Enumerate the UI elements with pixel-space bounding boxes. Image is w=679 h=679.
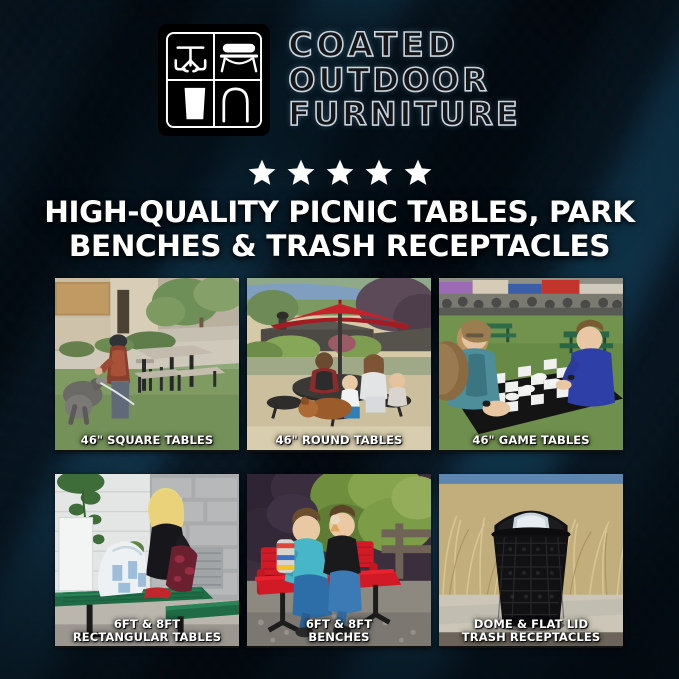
five-star-rating (0, 158, 679, 187)
product-tile-game-tables[interactable]: 46" GAME TABLES (439, 278, 623, 452)
star-icon (403, 158, 433, 187)
park-bench-icon (220, 44, 258, 71)
product-tile-rectangular-tables[interactable]: 6FT & 8FT RECTANGULAR TABLES (55, 474, 239, 648)
brand-logo: COATED OUTDOOR FURNITURE (0, 24, 679, 136)
square-tables-photo (55, 278, 239, 450)
headline-line-1: HIGH-QUALITY PICNIC TABLES, PARK (44, 195, 634, 229)
star-icon (325, 158, 355, 187)
product-caption: 46" GAME TABLES (439, 434, 623, 447)
brand-line-1: COATED (288, 28, 520, 63)
bike-rack-icon (224, 89, 248, 121)
brand-line-2: OUTDOOR (288, 64, 520, 98)
trash-receptacle-icon (185, 88, 206, 119)
page-headline: HIGH-QUALITY PICNIC TABLES, PARK BENCHES… (34, 196, 645, 263)
product-tile-trash-receptacles[interactable]: DOME & FLAT LID TRASH RECEPTACLES (439, 474, 623, 648)
product-caption: 46" ROUND TABLES (247, 434, 431, 447)
picnic-table-icon (176, 48, 205, 72)
four-quadrant-product-logo (158, 24, 270, 136)
round-tables-photo (247, 278, 431, 450)
infographic-root: COATED OUTDOOR FURNITURE HIGH-QUALITY PI… (0, 0, 679, 679)
product-tile-benches[interactable]: 6FT & 8FT BENCHES (247, 474, 431, 648)
game-tables-photo (439, 278, 623, 450)
star-icon (364, 158, 394, 187)
brand-wordmark: COATED OUTDOOR FURNITURE (288, 28, 520, 133)
product-tile-square-tables[interactable]: 46" SQUARE TABLES (55, 278, 239, 452)
product-category-grid: 46" SQUARE TABLES (55, 278, 623, 648)
product-tile-round-tables[interactable]: 46" ROUND TABLES (247, 278, 431, 452)
product-caption: DOME & FLAT LID TRASH RECEPTACLES (439, 618, 623, 644)
star-icon (247, 158, 277, 187)
product-caption: 46" SQUARE TABLES (55, 434, 239, 447)
product-caption: 6FT & 8FT BENCHES (247, 618, 431, 644)
product-caption: 6FT & 8FT RECTANGULAR TABLES (55, 618, 239, 644)
star-icon (286, 158, 316, 187)
brand-line-3: FURNITURE (288, 98, 520, 132)
headline-line-2: BENCHES & TRASH RECEPTACLES (34, 230, 645, 264)
